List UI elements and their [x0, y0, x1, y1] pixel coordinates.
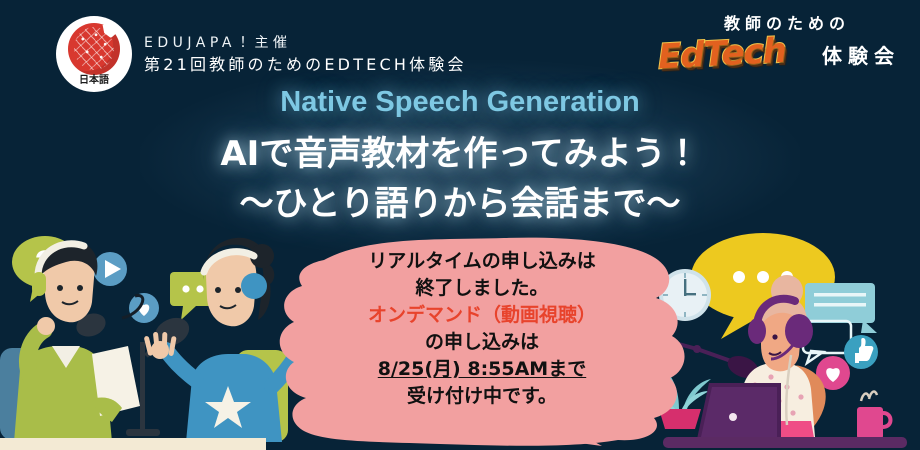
header-right-line2: 体験会: [822, 40, 900, 69]
laptop: [697, 383, 781, 439]
announcement-bubble: リアルタイムの申し込みは 終了しました。 オンデマンド（動画視聴） の申し込みは…: [272, 234, 692, 450]
title-japanese-sub: 〜ひとり語りから会話まで〜: [0, 176, 920, 225]
logo-caption: 日本語: [56, 76, 132, 86]
illustration-podcasters: ?: [0, 210, 300, 450]
title-japanese-main: AIで音声教材を作ってみよう！: [0, 126, 920, 175]
play-button-icon: [93, 252, 127, 286]
header-right: 教師のための EdTech 体験会: [668, 6, 908, 82]
bubble-line-4: の申し込みは: [425, 329, 539, 356]
organizer-line: EDUJAPA！主催: [144, 34, 467, 53]
coffee-mug-icon: [857, 392, 891, 439]
event-series-line: 第21回教師のためのEDTECH体験会: [144, 55, 467, 76]
bubble-text-block: リアルタイムの申し込みは 終了しました。 オンデマンド（動画視聴） の申し込みは…: [272, 234, 692, 450]
globe-icon: [68, 23, 120, 75]
bubble-line-5-deadline: 8/25(月) 8:55AMまで: [378, 356, 586, 383]
header-left: 日本語 EDUJAPA！主催 第21回教師のためのEDTECH体験会: [56, 16, 467, 92]
title-english: Native Speech Generation: [0, 86, 920, 119]
edtech-brand-logo: EdTech: [657, 31, 787, 78]
bubble-line-3: オンデマンド（動画視聴）: [368, 302, 596, 329]
edujapa-logo: 日本語: [56, 16, 132, 92]
thumbs-up-badge-icon: [844, 335, 878, 369]
bubble-line-1: リアルタイムの申し込みは: [368, 248, 595, 275]
seminar-banner: ?: [0, 0, 920, 450]
bubble-line-6: 受け付け中です。: [407, 383, 557, 410]
bubble-line-2: 終了しました。: [415, 275, 548, 302]
heart-badge-icon: [129, 293, 159, 323]
header-right-line1: 教師のための: [724, 10, 850, 34]
